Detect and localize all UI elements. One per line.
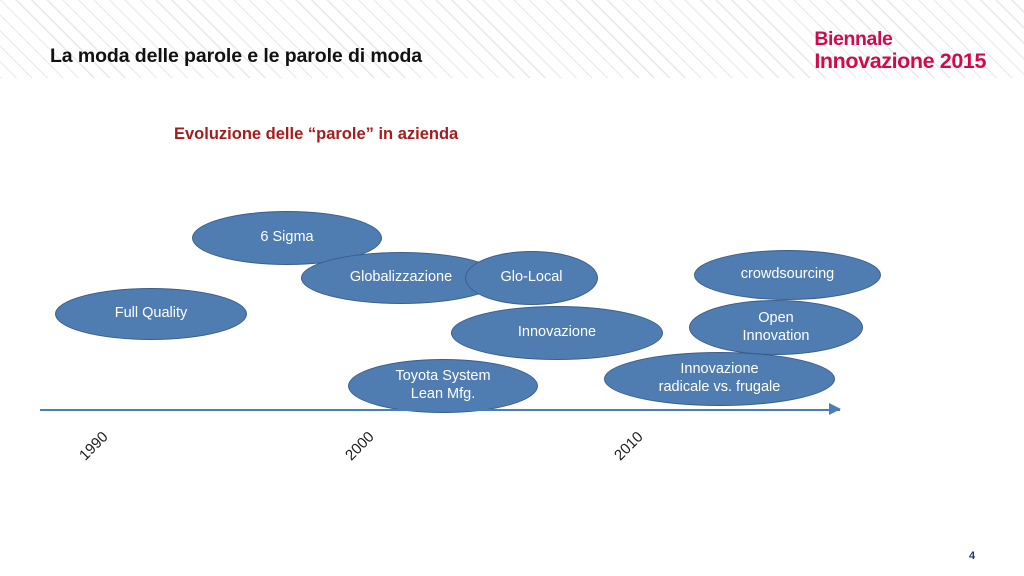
bubble-label-line: radicale vs. frugale (659, 379, 781, 397)
timeline-arrow-icon (829, 403, 841, 415)
brand-logo-line1: Biennale (814, 30, 986, 50)
timeline-bubble-toyota-system-lean-mfg: Toyota System Lean Mfg. (348, 359, 538, 413)
bubble-label-line: 6 Sigma (260, 229, 313, 247)
bubble-label-line: Globalizzazione (350, 269, 452, 287)
brand-logo: Biennale Innovazione 2015 (814, 30, 986, 72)
slide: La moda delle parole e le parole di moda… (0, 0, 1024, 576)
page-number: 4 (969, 550, 975, 562)
bubble-label-line: Toyota System (395, 368, 490, 386)
brand-logo-line2: Innovazione 2015 (814, 51, 986, 73)
chart-title: Evoluzione delle “parole” in azienda (174, 125, 458, 144)
timeline-bubble-open-innovation: Open Innovation (689, 300, 863, 355)
bubble-label-line: Open (743, 310, 810, 328)
timeline-axis-line (40, 409, 840, 411)
timeline-bubble-crowdsourcing: crowdsourcing (694, 250, 881, 300)
bubble-label-line: Full Quality (115, 305, 188, 323)
page-title: La moda delle parole e le parole di moda (50, 45, 422, 68)
bubble-label-line: Innovazione (659, 361, 781, 379)
axis-tick-label-2010: 2010 (611, 428, 647, 464)
timeline-bubble-glo-local: Glo-Local (465, 251, 598, 305)
bubble-label-line: crowdsourcing (741, 266, 835, 284)
bubble-label-line: Glo-Local (500, 269, 562, 287)
axis-tick-label-2000: 2000 (342, 428, 378, 464)
bubble-label-line: Lean Mfg. (395, 386, 490, 404)
timeline-bubble-innovazione-radicale-vs-frugale: Innovazione radicale vs. frugale (604, 352, 835, 406)
bubble-label-line: Innovazione (518, 324, 596, 342)
timeline-bubble-full-quality: Full Quality (55, 288, 247, 340)
timeline-bubble-innovazione: Innovazione (451, 306, 663, 360)
axis-tick-label-1990: 1990 (76, 428, 112, 464)
bubble-label-line: Innovation (743, 328, 810, 346)
